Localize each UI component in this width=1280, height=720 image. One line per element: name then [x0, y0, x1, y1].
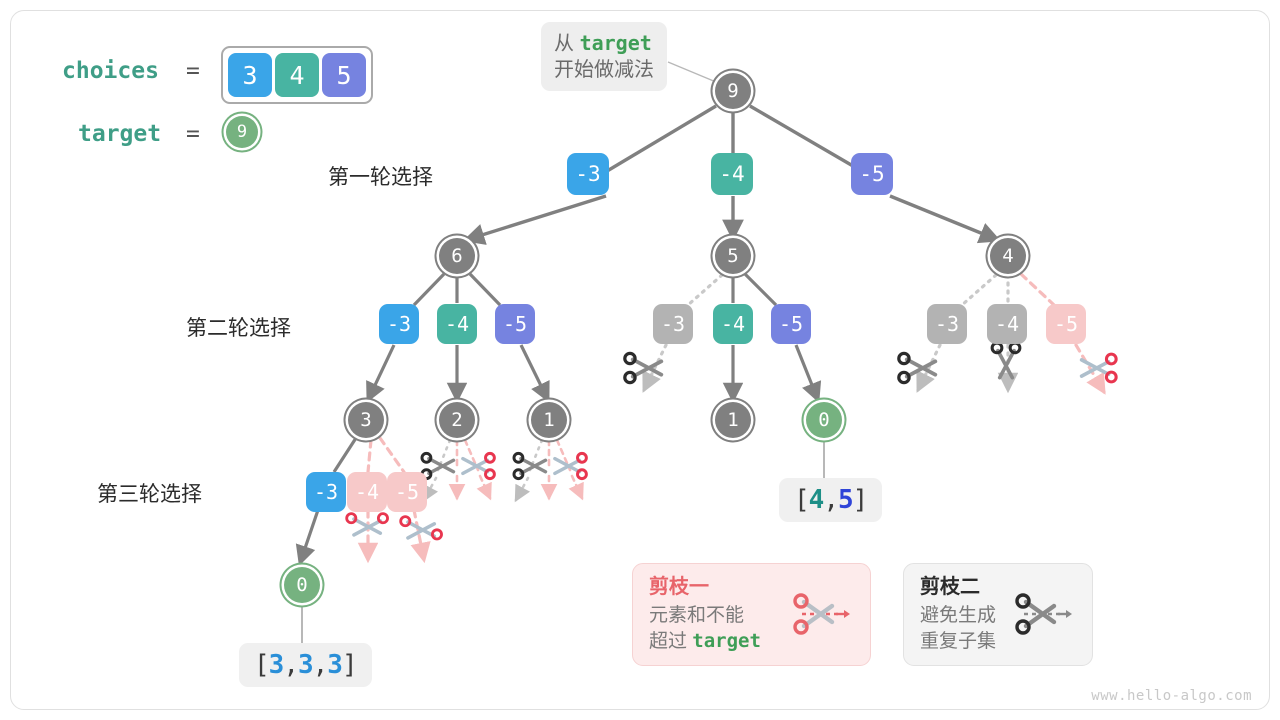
edge-label-l1-0[interactable]: -3 — [567, 153, 609, 195]
callout-line2: 开始做减法 — [554, 57, 654, 83]
round-label-3: 第三轮选择 — [97, 478, 202, 508]
legend-one-keyword: target — [692, 630, 761, 652]
round-label-2: 第二轮选择 — [186, 312, 291, 342]
edge-label-l2b-0[interactable]: -3 — [653, 304, 693, 344]
edge-label-l2c-1[interactable]: -4 — [987, 304, 1027, 344]
edge-label-l3-1[interactable]: -4 — [347, 472, 387, 512]
legend-one-line2: 超过 target — [649, 629, 761, 655]
result-mid-close: ] — [853, 485, 868, 515]
choice-chip-2[interactable]: 5 — [322, 53, 366, 97]
result-left-c: 3 — [327, 650, 342, 680]
edge-label-l2a-1[interactable]: -4 — [437, 304, 477, 344]
legend-two-line2: 重复子集 — [920, 629, 996, 655]
result-left-a: 3 — [269, 650, 284, 680]
tree-node-4[interactable]: 4 — [990, 238, 1026, 274]
result-mid-open: [ — [794, 485, 809, 515]
edge-label-l3-2[interactable]: -5 — [387, 472, 427, 512]
tree-node-0-mid[interactable]: 0 — [806, 402, 842, 438]
diagram-canvas: choices = 3 4 5 target = 9 从 target 开始做减… — [0, 0, 1280, 720]
callout-keyword: target — [580, 31, 652, 55]
result-mid-a: 4 — [809, 485, 824, 515]
edge-label-l2b-2[interactable]: -5 — [771, 304, 811, 344]
target-label: target — [78, 121, 161, 147]
tree-node-6[interactable]: 6 — [439, 238, 475, 274]
result-mid-b: 5 — [838, 485, 853, 515]
legend-two-text: 剪枝二 避免生成 重复子集 — [920, 574, 996, 654]
callout-line1-prefix: 从 — [554, 33, 580, 55]
result-box-middle: [4,5] — [779, 478, 882, 522]
result-left-close: ] — [342, 650, 357, 680]
round-label-1: 第一轮选择 — [328, 161, 433, 191]
result-left-c1: , — [283, 650, 298, 680]
tree-node-1-mid[interactable]: 1 — [715, 402, 751, 438]
result-box-left: [3,3,3] — [239, 643, 372, 687]
legend-one-text: 剪枝一 元素和不能 超过 target — [649, 574, 761, 654]
tree-node-3[interactable]: 3 — [348, 402, 384, 438]
tree-node-root[interactable]: 9 — [715, 73, 751, 109]
result-mid-c1: , — [823, 485, 838, 515]
edge-label-l2a-0[interactable]: -3 — [379, 304, 419, 344]
legend-one-line2-prefix: 超过 — [649, 631, 692, 652]
result-left-c2: , — [313, 650, 328, 680]
tree-node-0-left[interactable]: 0 — [284, 567, 320, 603]
scissors-icon-dark-legend — [1014, 592, 1076, 638]
legend-pruning-one: 剪枝一 元素和不能 超过 target — [632, 563, 871, 666]
edge-label-l1-2[interactable]: -5 — [851, 153, 893, 195]
result-left-b: 3 — [298, 650, 313, 680]
target-value-node: 9 — [226, 116, 258, 148]
choice-chip-0[interactable]: 3 — [228, 53, 272, 97]
edge-label-l1-1[interactable]: -4 — [711, 153, 753, 195]
edge-label-l3-0[interactable]: -3 — [306, 472, 346, 512]
edge-label-l2c-0[interactable]: -3 — [927, 304, 967, 344]
legend-pruning-two: 剪枝二 避免生成 重复子集 — [903, 563, 1093, 666]
choices-equals: = — [186, 58, 200, 84]
callout-bubble: 从 target 开始做减法 — [541, 22, 667, 91]
edge-label-l2a-2[interactable]: -5 — [495, 304, 535, 344]
legend-one-line1: 元素和不能 — [649, 603, 761, 629]
watermark: www.hello-algo.com — [1091, 688, 1252, 704]
legend-two-line1: 避免生成 — [920, 603, 996, 629]
scissors-icon-red-legend — [792, 592, 854, 638]
legend-two-title: 剪枝二 — [920, 574, 996, 601]
edge-label-l2b-1[interactable]: -4 — [713, 304, 753, 344]
result-left-open: [ — [254, 650, 269, 680]
tree-node-2[interactable]: 2 — [439, 402, 475, 438]
edge-label-l2c-2[interactable]: -5 — [1046, 304, 1086, 344]
choice-chip-1[interactable]: 4 — [275, 53, 319, 97]
target-equals: = — [186, 121, 200, 147]
choices-array: 3 4 5 — [221, 46, 373, 104]
choices-label: choices — [62, 58, 159, 84]
tree-node-5[interactable]: 5 — [715, 238, 751, 274]
legend-one-title: 剪枝一 — [649, 574, 761, 601]
tree-node-1-left[interactable]: 1 — [531, 402, 567, 438]
